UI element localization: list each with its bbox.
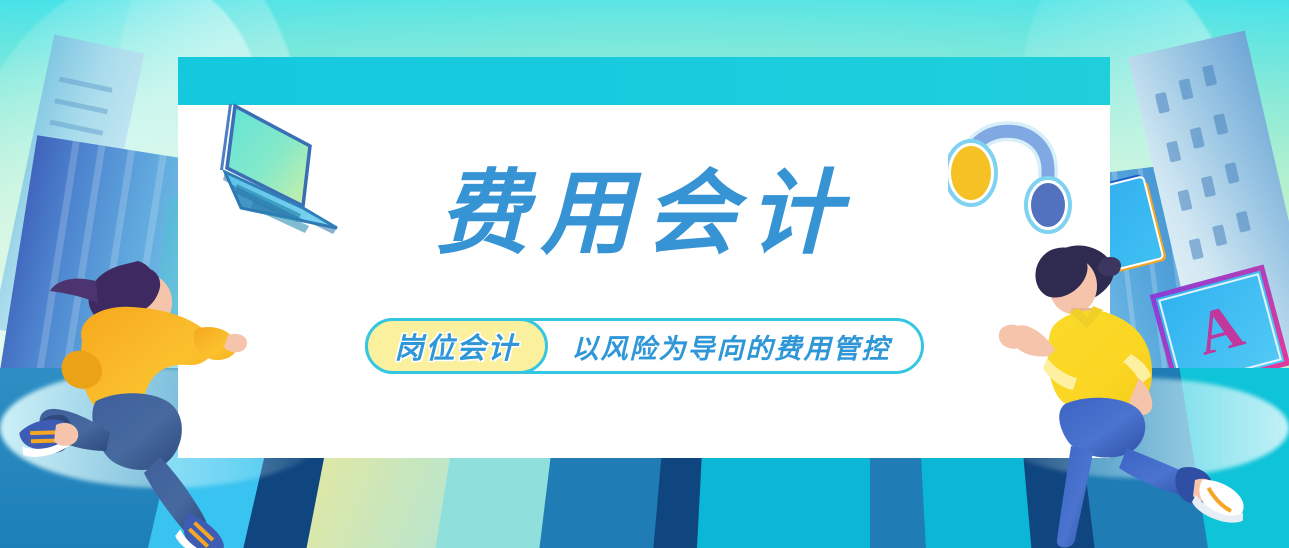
page-title: 费用会计 [0,168,1289,260]
running-man-illustration [999,228,1249,548]
running-woman-illustration [10,255,270,548]
tagline-text: 以风险为导向的费用管控 [548,327,921,366]
tagline-pill: 岗位会计 以风险为导向的费用管控 [365,318,923,374]
tagline-pill-wrapper: 岗位会计 以风险为导向的费用管控 [0,318,1289,374]
status-badge: 岗位会计 [365,318,547,374]
promo-banner: A [0,0,1289,548]
